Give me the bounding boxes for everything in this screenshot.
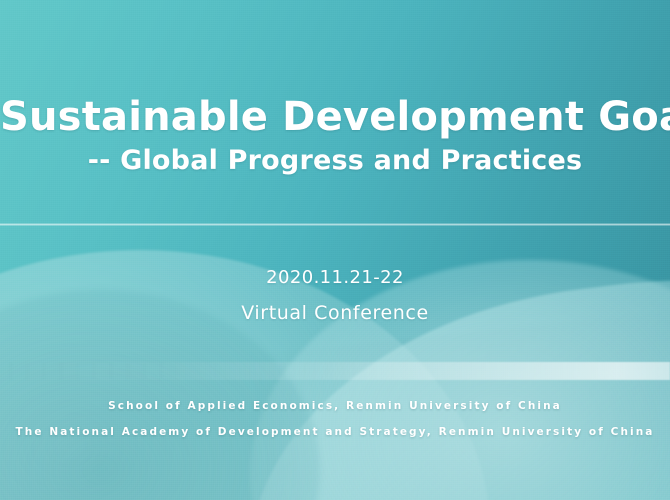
slide-title: Sustainable Development Goals 2020 (0, 96, 670, 139)
affiliation-line: School of Applied Economics, Renmin Univ… (0, 393, 670, 419)
slide-subtitle: -- Global Progress and Practices (0, 146, 670, 176)
event-mode: Virtual Conference (0, 302, 670, 324)
affiliation-list: School of Applied Economics, Renmin Univ… (0, 393, 670, 445)
affiliation-line: The National Academy of Development and … (0, 419, 670, 445)
event-date: 2020.11.21-22 (0, 267, 670, 288)
conference-title-slide: Sustainable Development Goals 2020 -- Gl… (0, 0, 670, 500)
slide-content: Sustainable Development Goals 2020 -- Gl… (0, 0, 670, 500)
title-divider (0, 223, 670, 226)
